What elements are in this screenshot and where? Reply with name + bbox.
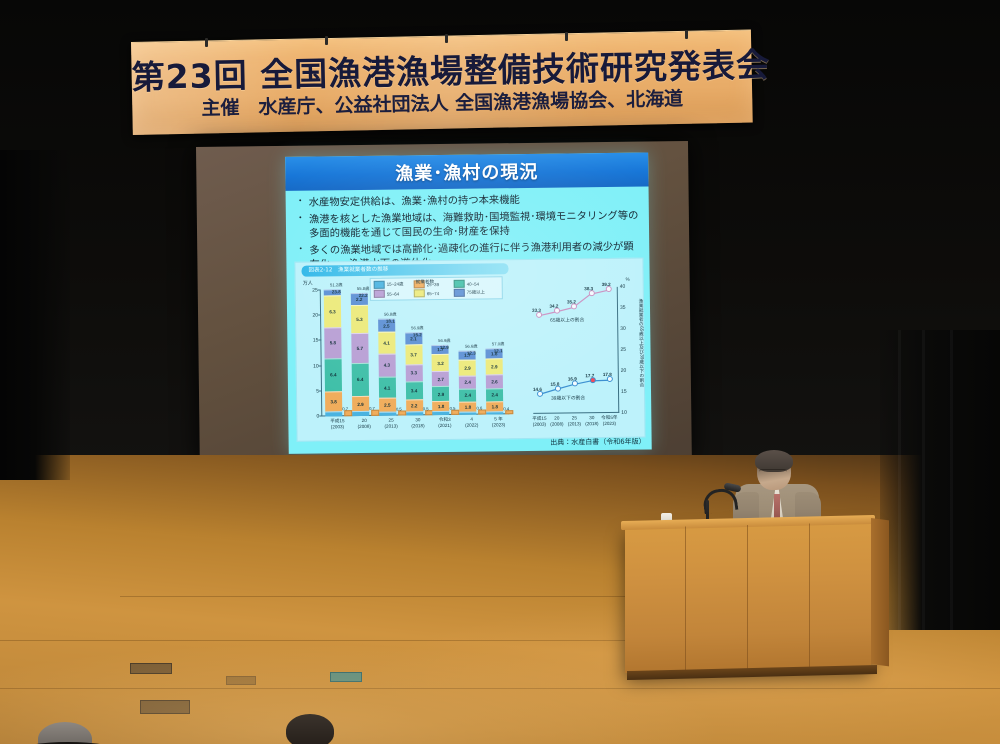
data-point-label: 38.3 [584,286,593,291]
y-axis-tick-secondary: 30 [620,326,631,332]
bar-average-age-label: 56.9歳 [432,337,457,343]
y-axis-tick: 0 [309,414,319,420]
x-tick-year: (2003) [331,424,344,429]
bar-average-age-label: 57.0歳 [486,341,511,347]
y-axis-tick: 25 [308,288,318,294]
banner-clip-icon [325,36,328,45]
x-tick-era: 5 年 [494,416,502,421]
curtain-fold [950,330,953,630]
bar-segment: 2.9 [459,360,476,376]
bar-total-label: 12.9 [432,344,457,349]
bar-segment-value: 1.8 [492,404,498,409]
y-axis-tick: 10 [309,363,319,369]
y-axis-tick-secondary: 35 [620,305,631,311]
bar-segment-value: 5.7 [357,346,363,351]
slide-title: 漁業･漁村の現況 [285,156,648,186]
bar-segment: 2.7 [432,371,449,386]
bar-segment-value: 3.7 [410,352,416,357]
banner-clip-icon [445,34,448,43]
bar-segment-value: 2.4 [464,380,470,385]
y-axis [320,290,323,416]
bar-segment: 5.7 [351,333,368,363]
bar-segment-value: 2.5 [383,323,389,328]
bar-segment: 3.2 [432,354,449,371]
bar-segment: 2.5 [379,398,396,412]
bar-segment: 5.8 [324,328,341,358]
bar-segment: 1.8 [433,401,450,411]
x-tick-era: 平成15 [330,418,344,423]
banner-clip-icon [565,32,568,41]
secondary-bar-value: 0.5 [423,407,429,412]
x-tick-year: (2013) [384,423,397,428]
curtain-fold [898,330,901,630]
bar-segment: 0.8 [325,411,342,416]
bar-total-label: 12.1 [486,348,511,353]
x-axis-tick-secondary: 令和5年(2023) [592,415,626,427]
projection-screen: 漁業･漁村の現況 ・ 水産物安定供給は、漁業･漁村の持つ本来機能 ・ 漁港を核と… [196,141,692,465]
presentation-slide: 漁業･漁村の現況 ・ 水産物安定供給は、漁業･漁村の持つ本来機能 ・ 漁港を核と… [285,152,652,453]
bar-segment-value: 2.9 [464,366,470,371]
y-axis-tick: 15 [308,338,318,344]
bar-segment: 2.9 [352,396,369,412]
bar-segment-value: 6.4 [330,373,336,378]
bar-average-age-label: 56.8歳 [378,311,403,317]
podium [625,522,871,673]
bar-column: 0.96.35.86.43.80.8 [324,289,343,416]
data-point-label: 17.8 [603,372,612,377]
bar-segment-value: 1.8 [438,404,444,409]
bar-segment: 6.4 [351,363,368,396]
floor-panel [226,676,256,685]
bar-segment: 2.9 [432,386,449,402]
bar-segment: 3.8 [325,391,342,411]
y-axis-tick-secondary: 40 [620,284,631,290]
bar-segment-value: 4.1 [383,341,389,346]
data-point-label: 16.9 [568,376,577,381]
bullet-marker-icon: ・ [296,196,305,211]
x-tick-era: 令和3 [439,417,451,422]
conference-photo: 第23回 全国漁港漁場整備技術研究発表会 主催 水産庁、公益社団法人 全国漁港漁… [0,0,1000,744]
data-point-label: 35.2 [567,300,576,305]
secondary-bar-value: 0.5 [396,407,402,412]
bar-segment: 2.9 [486,358,503,374]
bar-segment: 1.8 [486,401,503,411]
legend-item: 15~24歳 [374,280,410,288]
floor-panel [330,672,362,682]
y-axis-tick: 20 [308,313,318,319]
bar-segment: 0.6 [379,412,396,416]
y-axis-tick: 5 [309,388,319,394]
x-tick-year: (2022) [465,422,478,427]
bar-total-label: 22.2 [351,293,376,298]
bar-segment-value: 3.4 [411,389,417,394]
y-axis-tick-secondary: 25 [620,347,631,353]
x-tick-era: 4 [470,417,473,422]
bar-segment-value: 2.7 [438,377,444,382]
bar-total-label: 12.3 [459,350,484,355]
bar-segment-value: 2.9 [357,402,363,407]
bar-column: 1.82.92.62.41.80.4 [486,348,504,414]
bar-segment: 4.1 [379,376,396,398]
bar-column: 2.25.35.76.42.90.7 [351,293,369,416]
embedded-figure: 図表2-12 漁業就業者数の推移 万人 15~24歳25~3940~5455~6… [294,258,645,442]
bar-segment-value: 3.3 [411,371,417,376]
x-tick-year: (2008) [358,424,371,429]
bar-segment-value: 3.2 [437,361,443,366]
figure-caption: 図表2-12 漁業就業者数の推移 [301,263,508,277]
x-tick-era: 25 [388,418,393,423]
bar-segment-value: 2.4 [491,393,497,398]
podium-panel-seam [809,523,810,668]
glasses-icon [759,469,787,476]
series-label: 39歳以下の割合 [551,394,585,401]
bar-segment: 1.8 [459,402,476,412]
bar-segment: 2.6 [486,374,503,388]
legend-label: 40~54 [467,281,479,286]
bar-segment-value: 6.3 [329,309,335,314]
y-axis-tick-secondary: 20 [621,368,632,374]
bar-segment-value: 5.3 [356,317,362,322]
bar-segment: 3.3 [405,364,422,382]
bar-segment: 3.4 [405,382,422,400]
data-point-label: 17.7 [585,373,594,378]
bar-segment-value: 6.4 [357,377,363,382]
stage-curtain-right [880,330,1000,630]
secondary-bar-value: 0.7 [369,406,375,411]
bar-segment: 0.4 [460,412,477,415]
x-axis-tick: 5 年(2023) [481,416,515,428]
bullet-marker-icon: ・ [296,212,305,241]
legend-label: 15~24歳 [387,281,404,287]
y-axis-title-secondary: 漁業就業者の65歳以上及び39歳以下の割合 [638,299,645,387]
bar-segment: 5.3 [351,305,368,333]
bar-segment-value: 4.1 [384,385,390,390]
bar-total-label: 23.8 [324,289,349,294]
secondary-bar-value: 0.6 [476,406,482,411]
data-point-label: 33.3 [532,308,541,313]
x-tick-year: (2018) [411,423,424,428]
bar-segment-value: 2.5 [384,403,390,408]
bar-segment: 0.7 [352,411,369,416]
x-tick-era: 令和5年 [601,415,617,420]
bar-segment-value: 1.8 [465,405,471,410]
podium-side-face [871,518,889,666]
bullet-text: 水産物安定供給は、漁業･漁村の持つ本来機能 [309,192,642,211]
bar-total-label: 15.2 [405,333,430,338]
bar-column: 2.13.73.33.42.20.5 [405,333,423,416]
bar-segment: 0.4 [486,411,503,414]
podium-panel-seam [685,527,686,672]
bar-segment-value: 2.9 [491,364,497,369]
bar-segment-value: 2.9 [438,392,444,397]
y-axis-unit-secondary: % [626,277,630,282]
banner-clip-icon [205,38,208,47]
bar-segment: 6.3 [324,295,341,328]
bar-segment: 2.4 [459,388,476,401]
data-point-label: 39.2 [602,282,611,287]
y-axis-unit-label: 万人 [303,280,313,287]
bar-segment: 2.4 [459,375,476,388]
x-tick-year: (2021) [438,423,451,428]
data-point-label: 34.2 [549,304,558,309]
bar-segment-value: 5.8 [330,341,336,346]
bar-segment-value: 3.8 [330,399,336,404]
bar-segment: 0.5 [406,412,423,416]
bar-column: 1.72.92.42.41.80.4 [459,350,477,415]
floor-panel [130,663,172,674]
secondary-bar-value: 0.7 [342,407,348,412]
bar-segment-value: 2.2 [411,404,417,409]
bar-segment: 4.1 [378,332,395,354]
bar-segment-value: 2.4 [465,393,471,398]
audience-head [286,714,334,744]
bar-segment: 2.4 [486,388,503,401]
bullet-text: 漁港を核とした漁業地域は、海難救助･国境監視･環境モニタリング等の多面的機能を通… [309,208,642,241]
floor-seam [0,640,640,641]
bar-segment: 2.2 [406,400,423,412]
x-tick-era: 30 [415,417,420,422]
bar-total-label: 18.1 [378,318,403,323]
bar-column: 1.73.22.72.91.80.5 [432,344,450,415]
bar-segment: 0.5 [433,411,450,415]
secondary-series-label: 就業者数 [416,279,434,285]
legend-swatch [454,280,465,288]
line-chart: 10152025303540%33.334.235.238.339.265歳以上… [532,287,620,414]
floor-seam [120,596,640,597]
bar-segment-value: 2.6 [491,379,497,384]
secondary-bar-value: 0.5 [450,406,456,411]
slide-source-note: 出典：水産白書（令和6年版） [550,437,646,448]
floor-panel [140,700,190,714]
curtain-fold [922,330,925,630]
bar-average-age-label: 56.6歳 [459,343,484,349]
series-label: 65歳以上の割合 [550,317,584,324]
bar-average-age-label: 55.8歳 [351,286,376,292]
bar-segment: 4.3 [378,354,395,377]
list-item: ・ 水産物安定供給は、漁業･漁村の持つ本来機能 [296,192,642,211]
podium-panel-seam [747,525,748,670]
stage-curtain-left [0,150,70,480]
bar-segment: 6.4 [325,358,342,391]
legend-item: 40~54 [454,279,490,287]
x-tick-era: 20 [362,418,367,423]
bar-average-age-label: 51.2歳 [324,282,349,288]
x-tick-year: (2023) [492,422,505,427]
list-item: ・ 漁港を核とした漁業地域は、海難救助･国境監視･環境モニタリング等の多面的機能… [296,208,642,241]
data-point-label: 14.6 [533,386,542,391]
stacked-bar-chart: 05101520250.96.35.86.43.80.823.851.2歳0.7… [320,288,510,416]
bar-average-age-label: 56.9歳 [405,326,430,332]
event-banner: 第23回 全国漁港漁場整備技術研究発表会 主催 水産庁、公益社団法人 全国漁港漁… [131,30,753,135]
bar-column: 2.54.14.34.12.50.6 [378,318,396,415]
x-tick-year: (2023) [603,421,616,426]
bar-segment-value: 4.3 [384,363,390,368]
banner-clip-icon [685,30,688,39]
y-axis-tick-secondary: 15 [621,389,632,395]
data-point-label: 15.8 [550,381,559,386]
bar-segment: 3.7 [405,344,422,364]
floor-seam [0,688,1000,689]
secondary-bar-value: 0.4 [503,406,509,411]
